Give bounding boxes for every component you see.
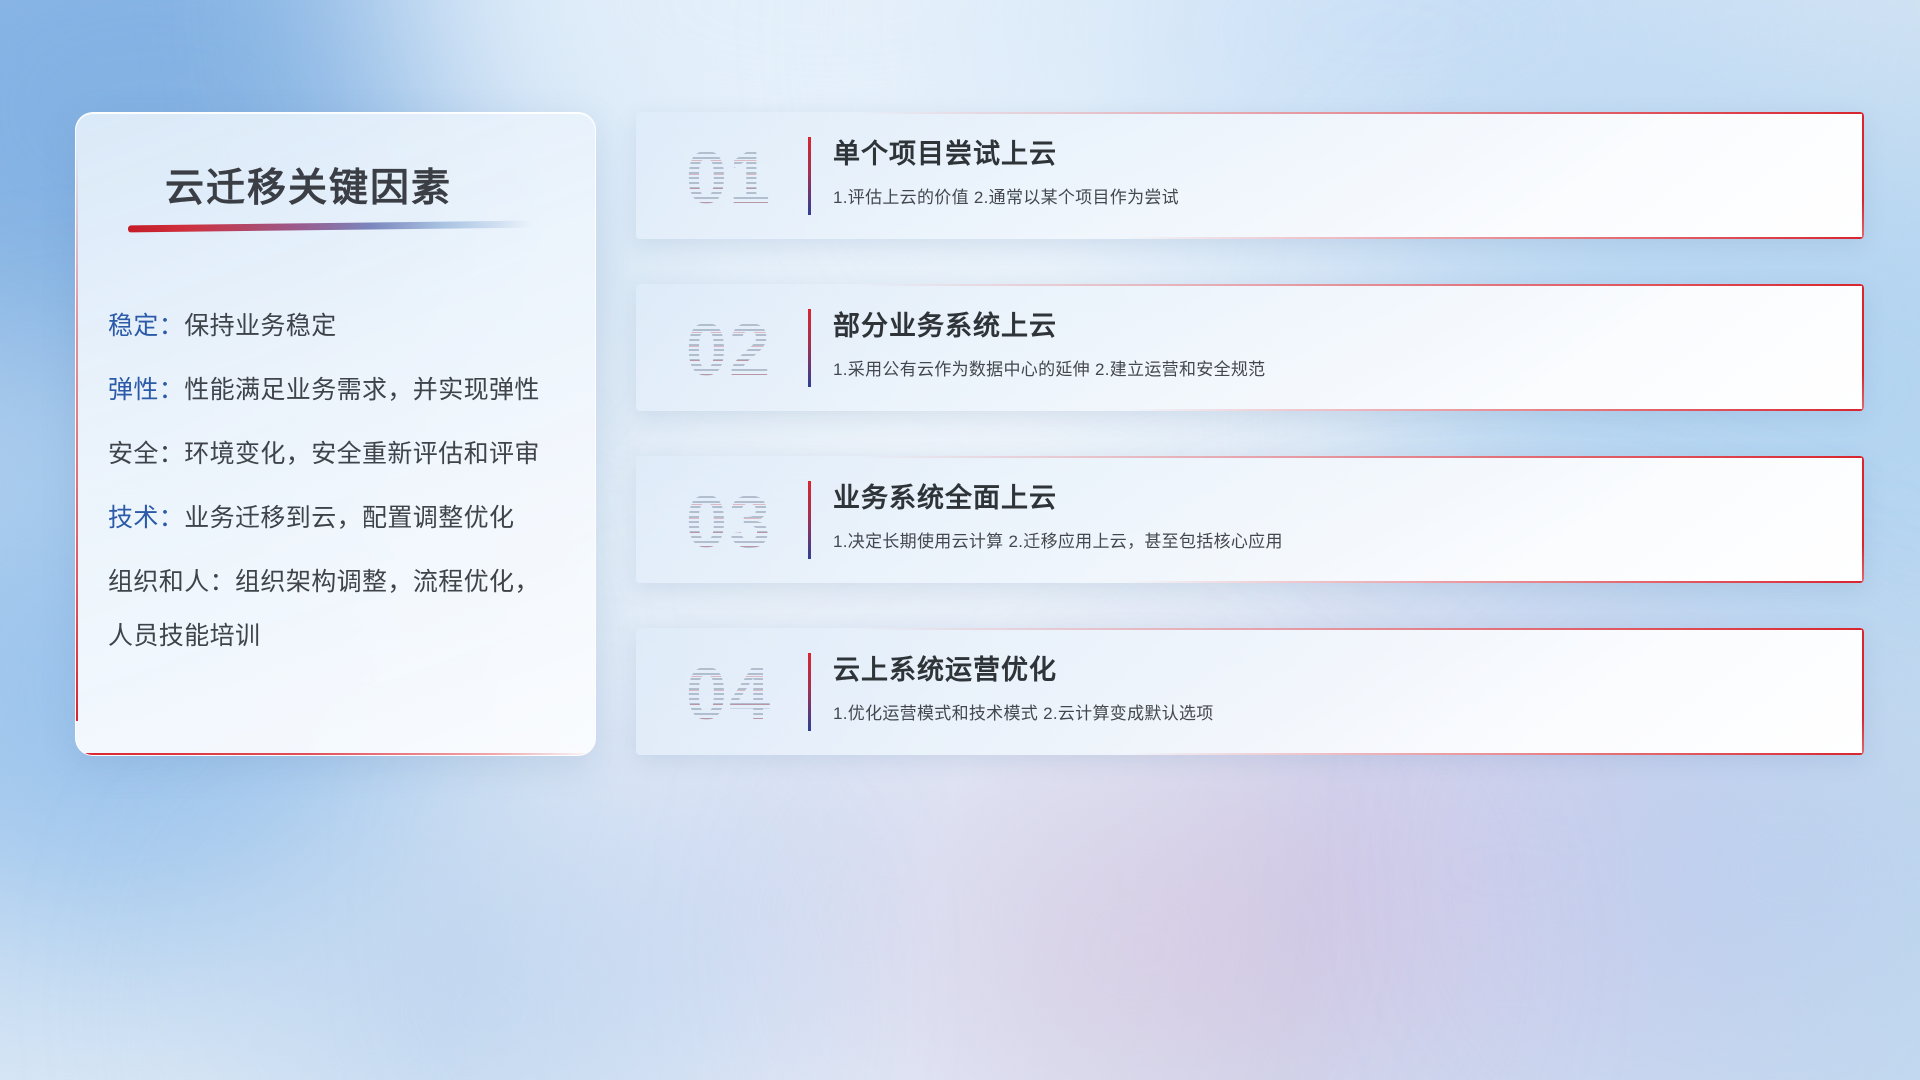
stage-card[interactable]: 03 03 业务系统全面上云 1.决定长期使用云计算 2.迁移应用上云，甚至包括…: [636, 456, 1864, 583]
factor-item: 组织和人：组织架构调整，流程优化，: [108, 567, 577, 597]
factor-item: 弹性：性能满足业务需求，并实现弹性: [108, 375, 577, 405]
factor-key: 技术：: [108, 504, 184, 532]
stage-description: 1.评估上云的价值 2.通常以某个项目作为尝试: [833, 183, 1179, 208]
card-bottom-accent: [1127, 237, 1864, 239]
factor-item: 技术：业务迁移到云，配置调整优化: [108, 503, 577, 533]
stage-description: 1.采用公有云作为数据中心的延伸 2.建立运营和安全规范: [833, 355, 1265, 380]
factor-text: 环境变化，安全重新评估和评审: [184, 440, 540, 468]
factor-text: 组织架构调整，流程优化，: [235, 568, 540, 596]
accent-bar: [808, 653, 811, 731]
factor-key: 组织和人：: [108, 568, 235, 596]
factor-continuation: 人员技能培训: [108, 621, 577, 651]
factor-key: 稳定：: [108, 312, 184, 340]
accent-bar: [808, 309, 811, 387]
factor-key: 弹性：: [108, 376, 184, 404]
stage-description: 1.优化运营模式和技术模式 2.云计算变成默认选项: [833, 699, 1214, 724]
stage-card[interactable]: 02 02 部分业务系统上云 1.采用公有云作为数据中心的延伸 2.建立运营和安…: [636, 284, 1864, 411]
stage-title: 云上系统运营优化: [833, 648, 1057, 687]
stage-number: 04: [664, 648, 794, 740]
stage-card-list: 01 01 单个项目尝试上云 1.评估上云的价值 2.通常以某个项目作为尝试 0…: [636, 112, 1864, 755]
stage-title: 部分业务系统上云: [833, 304, 1057, 343]
title-underline-accent: [128, 221, 532, 233]
card-bottom-accent: [1127, 753, 1864, 755]
card-bottom-accent: [1127, 581, 1864, 583]
panel-title: 云迁移关键因素: [165, 157, 452, 213]
stage-card[interactable]: 01 01 单个项目尝试上云 1.评估上云的价值 2.通常以某个项目作为尝试: [636, 112, 1864, 239]
stage-title: 单个项目尝试上云: [833, 132, 1057, 171]
factor-text: 业务迁移到云，配置调整优化: [184, 504, 514, 532]
accent-bar: [808, 137, 811, 215]
accent-bar: [808, 481, 811, 559]
stage-number: 02: [664, 304, 794, 396]
key-factors-panel: 云迁移关键因素 稳定：保持业务稳定 弹性：性能满足业务需求，并实现弹性 安全：环…: [75, 112, 596, 756]
slide-stage: 云迁移关键因素 稳定：保持业务稳定 弹性：性能满足业务需求，并实现弹性 安全：环…: [0, 0, 1920, 1080]
stage-number: 03: [664, 476, 794, 568]
factor-list: 稳定：保持业务稳定 弹性：性能满足业务需求，并实现弹性 安全：环境变化，安全重新…: [108, 311, 577, 651]
stage-number: 01: [664, 132, 794, 224]
stage-description: 1.决定长期使用云计算 2.迁移应用上云，甚至包括核心应用: [833, 527, 1283, 552]
factor-text: 保持业务稳定: [184, 312, 336, 340]
factor-item: 安全：环境变化，安全重新评估和评审: [108, 439, 577, 469]
factor-key: 安全：: [108, 440, 184, 468]
stage-title: 业务系统全面上云: [833, 476, 1057, 515]
stage-card[interactable]: 04 04 云上系统运营优化 1.优化运营模式和技术模式 2.云计算变成默认选项: [636, 628, 1864, 755]
factor-text: 性能满足业务需求，并实现弹性: [184, 376, 540, 404]
card-bottom-accent: [1127, 409, 1864, 411]
factor-item: 稳定：保持业务稳定: [108, 311, 577, 341]
